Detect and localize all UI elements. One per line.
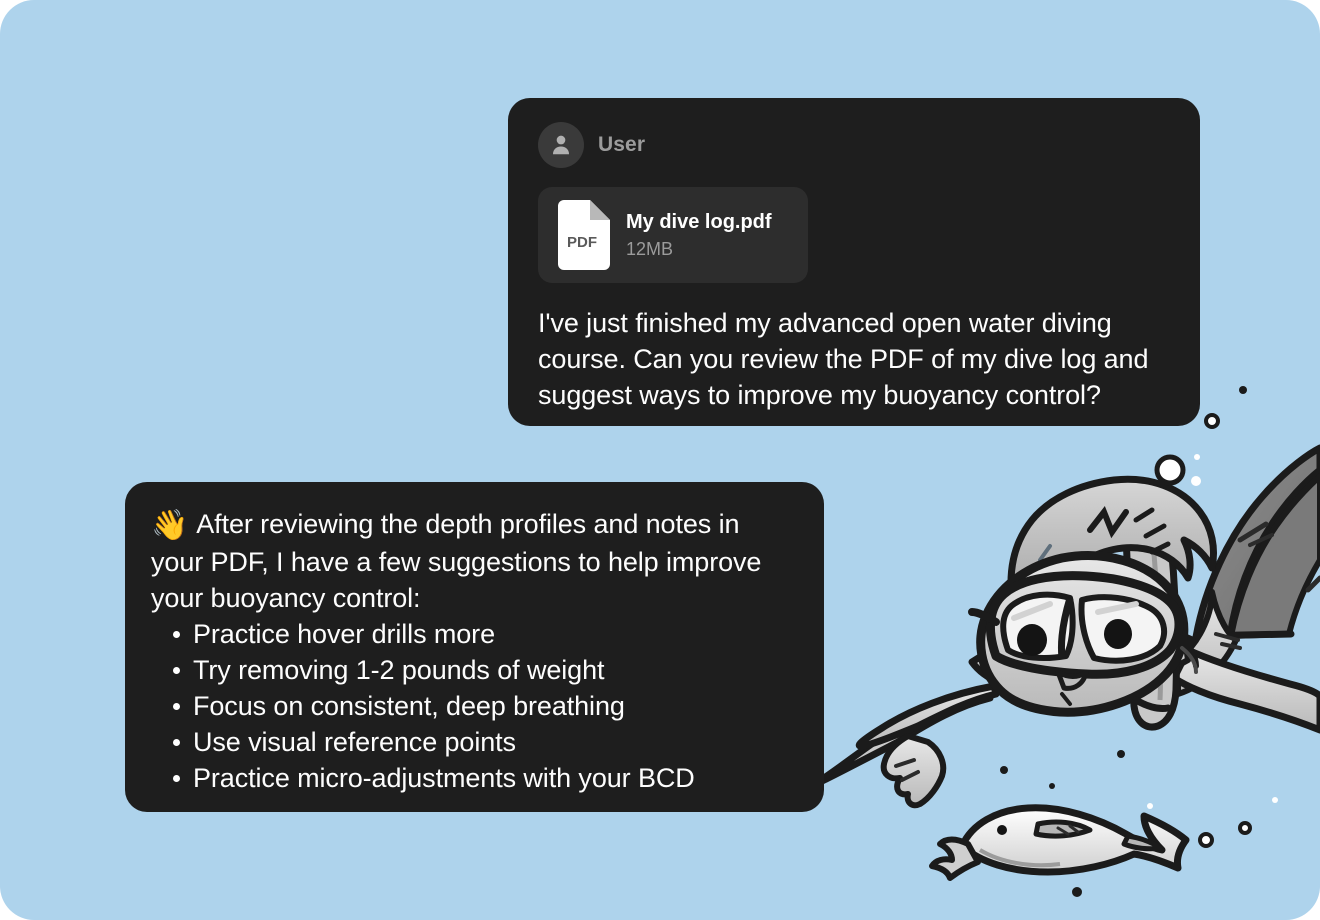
screenshot-canvas: User PDF My dive log.pdf 12MB I've just …: [0, 0, 1320, 920]
list-item: Focus on consistent, deep breathing: [151, 688, 798, 724]
list-item: Use visual reference points: [151, 724, 798, 760]
waving-hand-emoji: 👋: [151, 509, 188, 542]
list-item: Practice hover drills more: [151, 616, 798, 652]
chat-thread: User PDF My dive log.pdf 12MB I've just …: [0, 0, 1320, 920]
assistant-intro-copy: After reviewing the depth profiles and n…: [151, 509, 761, 613]
user-message-bubble: User PDF My dive log.pdf 12MB I've just …: [508, 98, 1200, 426]
assistant-message-bubble: 👋After reviewing the depth profiles and …: [125, 482, 824, 812]
pdf-file-icon: PDF: [554, 200, 610, 270]
user-message-text: I've just finished my advanced open wate…: [538, 305, 1172, 413]
user-role-label: User: [598, 133, 645, 157]
file-attachment-chip[interactable]: PDF My dive log.pdf 12MB: [538, 187, 808, 283]
suggestion-list: Practice hover drills more Try removing …: [151, 616, 798, 796]
file-size-label: 12MB: [626, 239, 772, 260]
list-item: Try removing 1-2 pounds of weight: [151, 652, 798, 688]
list-item: Practice micro-adjustments with your BCD: [151, 760, 798, 796]
svg-text:PDF: PDF: [567, 234, 597, 251]
person-icon: [538, 122, 584, 168]
assistant-intro-text: 👋After reviewing the depth profiles and …: [151, 506, 798, 616]
user-message-header: User: [538, 122, 1172, 168]
file-attachment-meta: My dive log.pdf 12MB: [626, 211, 772, 260]
file-name-label: My dive log.pdf: [626, 211, 772, 234]
